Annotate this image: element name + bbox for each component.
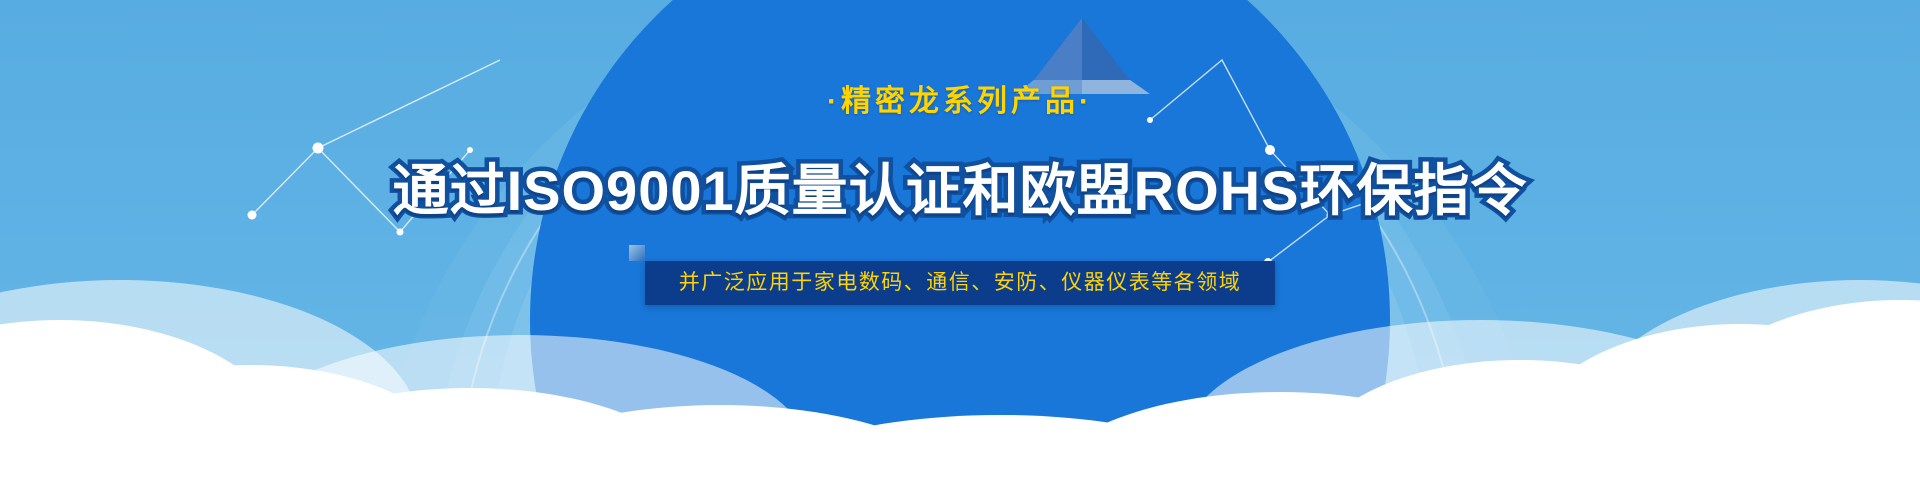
banner-headline-wrap: 通过ISO9001质量认证和欧盟ROHS环保指令	[393, 146, 1528, 227]
banner-headline: 通过ISO9001质量认证和欧盟ROHS环保指令	[393, 146, 1528, 227]
banner-content: ·精密龙系列产品· 通过ISO9001质量认证和欧盟ROHS环保指令 并广泛应用…	[0, 0, 1920, 480]
promo-banner: ·精密龙系列产品· 通过ISO9001质量认证和欧盟ROHS环保指令 并广泛应用…	[0, 0, 1920, 480]
ribbon-fold-corner	[629, 245, 645, 261]
banner-eyebrow: ·精密龙系列产品·	[827, 76, 1093, 120]
banner-ribbon: 并广泛应用于家电数码、通信、安防、仪器仪表等各领域	[645, 261, 1276, 305]
banner-ribbon-text: 并广泛应用于家电数码、通信、安防、仪器仪表等各领域	[679, 271, 1242, 294]
